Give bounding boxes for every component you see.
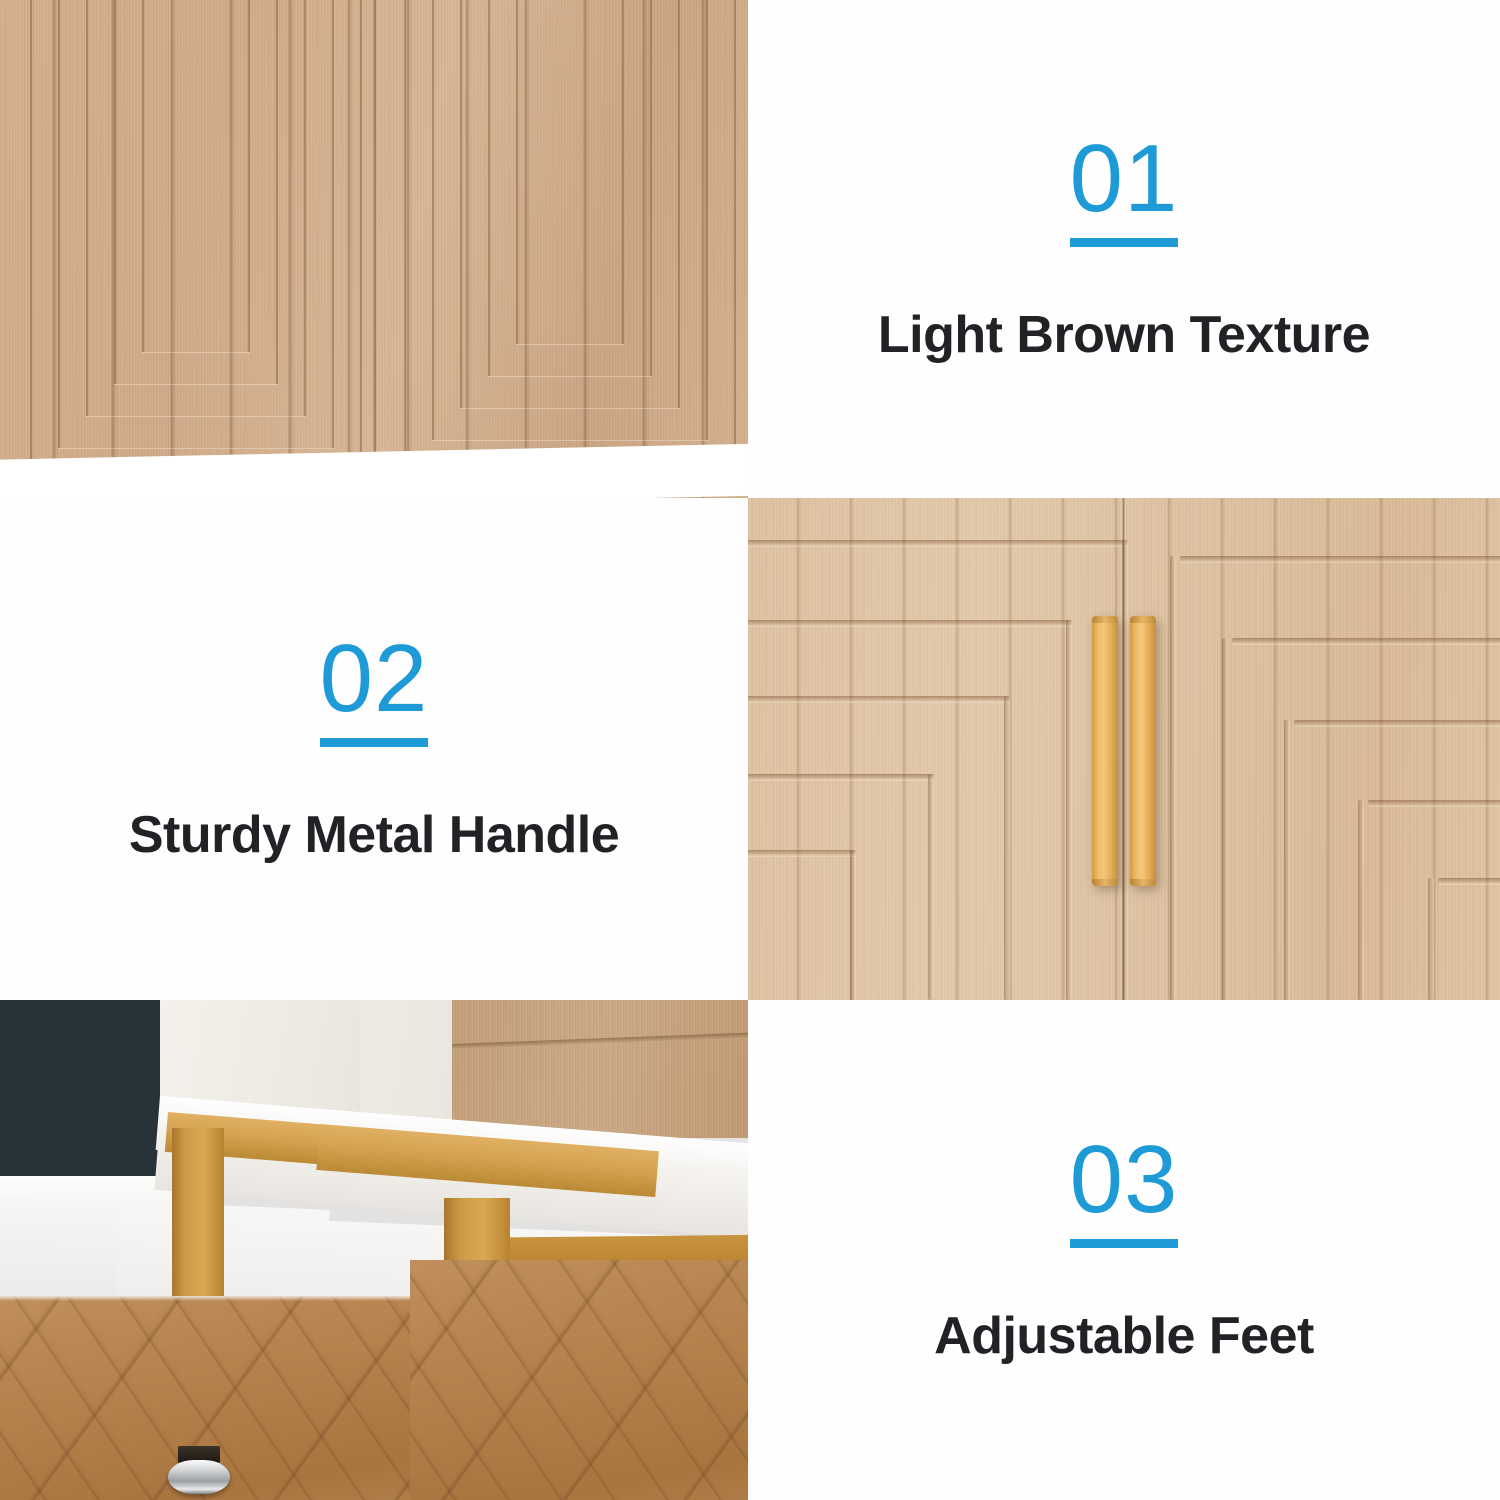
handle-cap-top xyxy=(1130,616,1156,623)
groove-h-3 xyxy=(748,696,1010,703)
handle-cap-bottom xyxy=(1092,879,1118,886)
metal-handle-photo xyxy=(748,498,1500,1000)
groove-h-8 xyxy=(1294,720,1500,727)
engrave-ring-10 xyxy=(516,0,624,344)
handle-cap-bottom xyxy=(1130,879,1156,886)
groove-h-5 xyxy=(748,850,856,857)
cabinet-wood-front xyxy=(452,1000,748,1138)
groove-v-5 xyxy=(850,850,856,1000)
engrave-ring-5 xyxy=(142,0,250,352)
foot-chrome-pad xyxy=(168,1460,230,1494)
door-seam xyxy=(1122,498,1125,1000)
feature-caption-02: Sturdy Metal Handle xyxy=(129,805,619,865)
groove-v-3 xyxy=(1004,696,1010,1000)
feature-number-03: 03 xyxy=(1070,1126,1179,1233)
feature-number-badge-02: 02 xyxy=(320,633,429,747)
groove-h-9 xyxy=(1368,800,1500,807)
feature-card-03: 03 Adjustable Feet xyxy=(748,1000,1500,1500)
groove-v-4 xyxy=(928,774,934,1000)
feature-number-01: 01 xyxy=(1070,125,1179,232)
groove-v-9 xyxy=(1358,800,1364,1000)
door-seam xyxy=(373,0,377,498)
groove-h-1 xyxy=(748,540,1128,547)
feature-number-02: 02 xyxy=(320,625,429,732)
feature-card-02: 02 Sturdy Metal Handle xyxy=(0,498,748,1000)
groove-v-7 xyxy=(1222,638,1228,1000)
feature-card-01: 01 Light Brown Texture xyxy=(748,0,1500,498)
feature-caption-03: Adjustable Feet xyxy=(934,1306,1314,1366)
groove-v-6 xyxy=(1170,556,1176,1000)
feature-number-badge-03: 03 xyxy=(1070,1134,1179,1248)
adjustable-feet-photo xyxy=(0,1000,748,1500)
groove-h-2 xyxy=(748,620,1072,627)
groove-h-10 xyxy=(1438,878,1500,885)
feature-number-badge-01: 01 xyxy=(1070,133,1179,247)
groove-h-6 xyxy=(1180,556,1500,563)
feature-caption-01: Light Brown Texture xyxy=(878,305,1370,365)
feature-infographic: 01 Light Brown Texture 02 Sturdy Metal H… xyxy=(0,0,1500,1500)
groove-v-2 xyxy=(1066,620,1072,1000)
handle-cap-top xyxy=(1092,616,1118,623)
metal-handle-left xyxy=(1092,616,1118,886)
groove-v-8 xyxy=(1284,720,1290,1000)
groove-v-10 xyxy=(1428,878,1434,1000)
herringbone-floor-right xyxy=(410,1260,748,1500)
groove-h-7 xyxy=(1232,638,1500,645)
wood-door-texture-photo xyxy=(0,0,748,498)
metal-handle-right xyxy=(1130,616,1156,886)
groove-h-4 xyxy=(748,774,934,781)
